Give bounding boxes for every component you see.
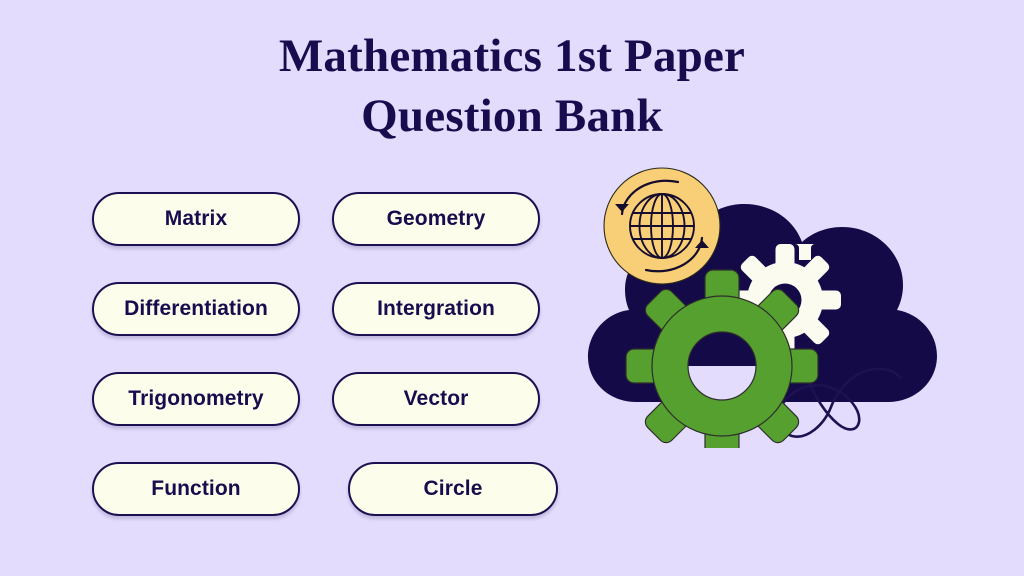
globe-icon bbox=[630, 194, 694, 258]
topic-pill-label: Vector bbox=[404, 387, 469, 411]
topic-pill-differentiation[interactable]: Differentiation bbox=[92, 282, 300, 336]
topic-pill-intergration[interactable]: Intergration bbox=[332, 282, 540, 336]
topic-column-left: Matrix Differentiation Trigonometry Func… bbox=[92, 192, 300, 516]
topic-pill-label: Function bbox=[151, 477, 240, 501]
topic-pill-trigonometry[interactable]: Trigonometry bbox=[92, 372, 300, 426]
topic-pill-label: Differentiation bbox=[124, 297, 268, 321]
topic-pill-geometry[interactable]: Geometry bbox=[332, 192, 540, 246]
topic-pill-label: Matrix bbox=[165, 207, 227, 231]
topic-pill-label: Geometry bbox=[387, 207, 486, 231]
topic-pill-label: Trigonometry bbox=[128, 387, 263, 411]
page-title-line-2: Question Bank bbox=[0, 86, 1024, 146]
topic-pill-vector[interactable]: Vector bbox=[332, 372, 540, 426]
page-title: Mathematics 1st Paper Question Bank bbox=[0, 26, 1024, 146]
topic-pill-matrix[interactable]: Matrix bbox=[92, 192, 300, 246]
topic-column-right: Geometry Intergration Vector Circle bbox=[332, 192, 558, 516]
green-gear-icon bbox=[626, 270, 818, 448]
topic-pill-circle[interactable]: Circle bbox=[348, 462, 558, 516]
cloud-gears-illustration bbox=[576, 148, 976, 448]
poster-canvas: Mathematics 1st Paper Question Bank Matr… bbox=[0, 0, 1024, 576]
topic-pill-label: Circle bbox=[424, 477, 483, 501]
globe-badge bbox=[604, 168, 720, 284]
topic-pill-label: Intergration bbox=[377, 297, 495, 321]
topic-pill-function[interactable]: Function bbox=[92, 462, 300, 516]
page-title-line-1: Mathematics 1st Paper bbox=[0, 26, 1024, 86]
